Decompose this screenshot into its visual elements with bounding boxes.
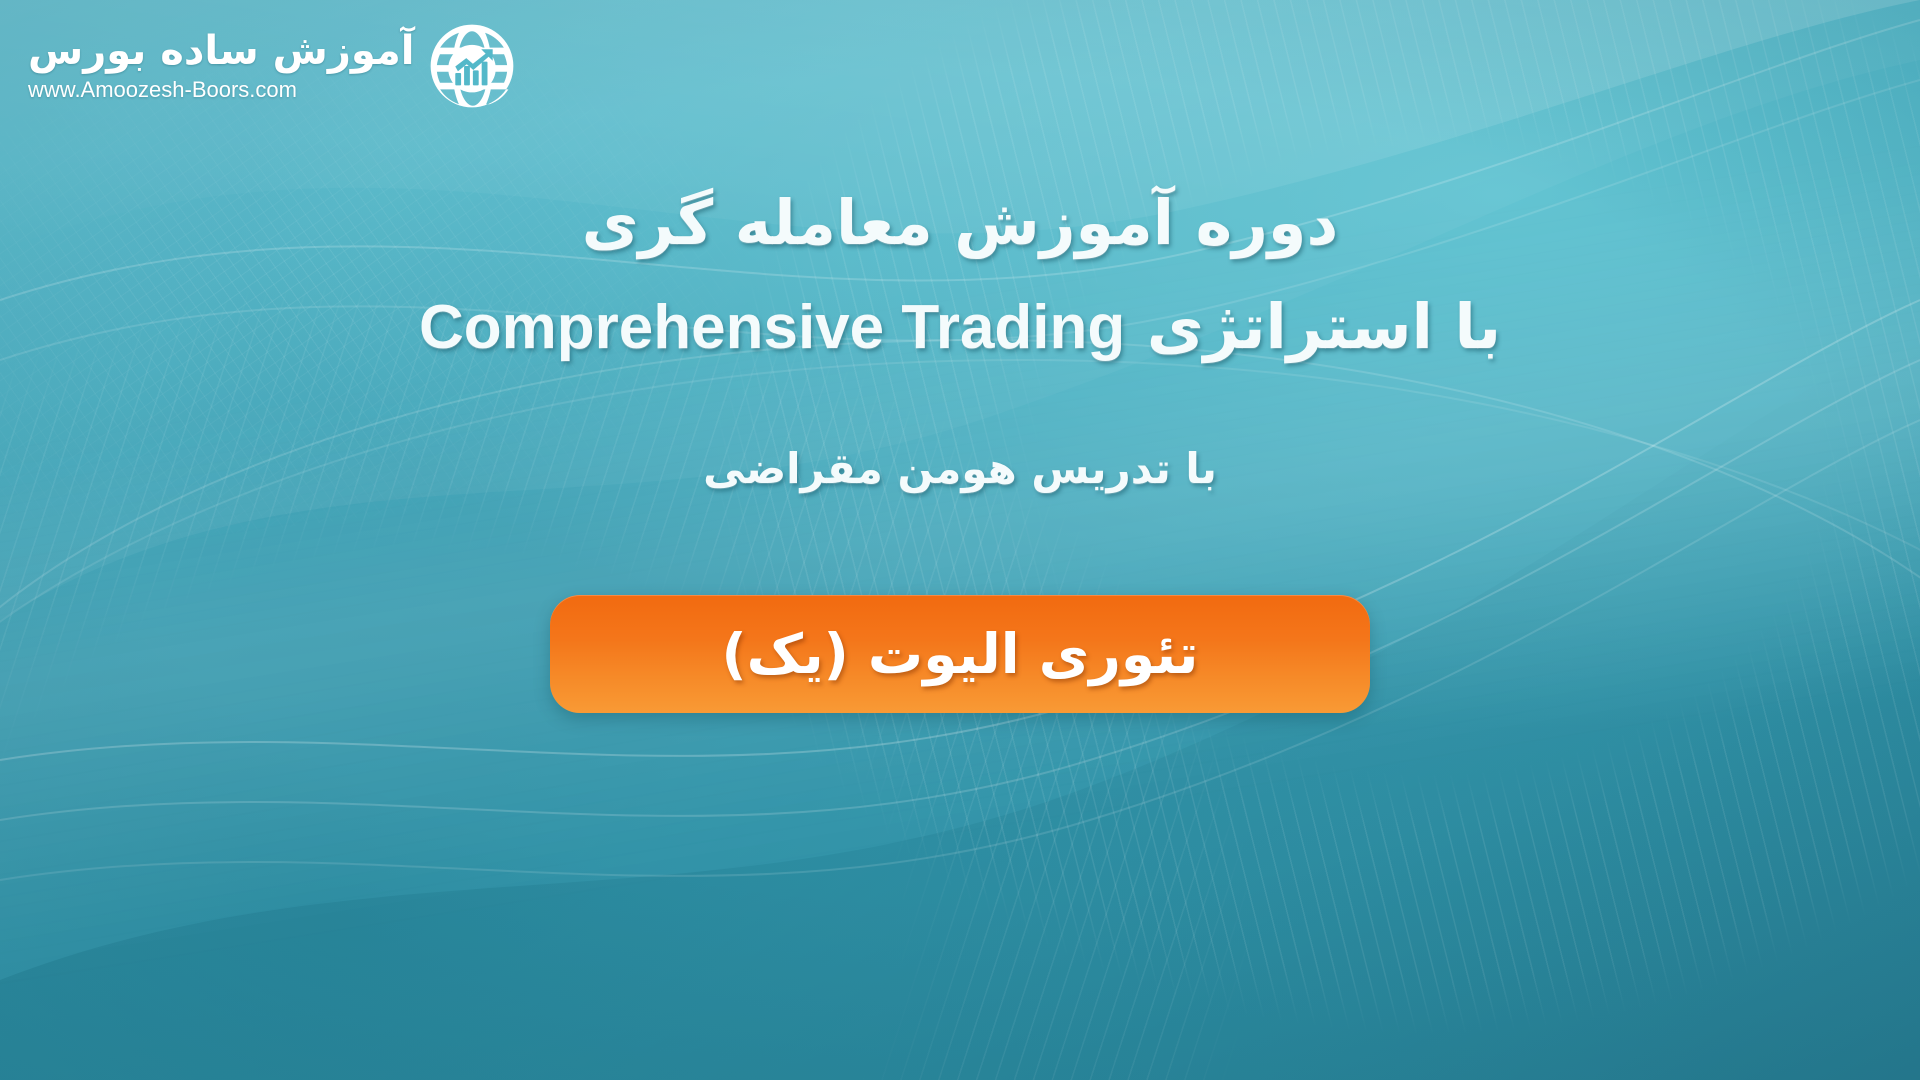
banner-content: دوره آموزش معامله گری با استراتژی Compre… — [0, 190, 1920, 713]
course-title-button[interactable]: تئوری الیوت (یک) — [550, 595, 1370, 713]
headline-line-1: دوره آموزش معامله گری — [582, 190, 1339, 256]
brand-website: www.Amoozesh-Boors.com — [28, 79, 297, 101]
globe-bar-chart-icon — [428, 22, 516, 110]
brand-name-fa: آموزش ساده بورس — [28, 31, 414, 71]
headline-line-2-fa: با استراتژی — [1147, 290, 1501, 363]
brand-logo[interactable]: آموزش ساده بورس www.Amoozesh-Boors.com — [28, 22, 516, 110]
headline-line-2-en: Comprehensive Trading — [419, 295, 1125, 361]
headline-line-2: با استراتژی Comprehensive Trading — [419, 294, 1501, 361]
brand-wordmark: آموزش ساده بورس www.Amoozesh-Boors.com — [28, 31, 414, 101]
course-banner: آموزش ساده بورس www.Amoozesh-Boors.com د… — [0, 0, 1920, 1080]
instructor-line: با تدریس هومن مقراضی — [703, 446, 1217, 492]
